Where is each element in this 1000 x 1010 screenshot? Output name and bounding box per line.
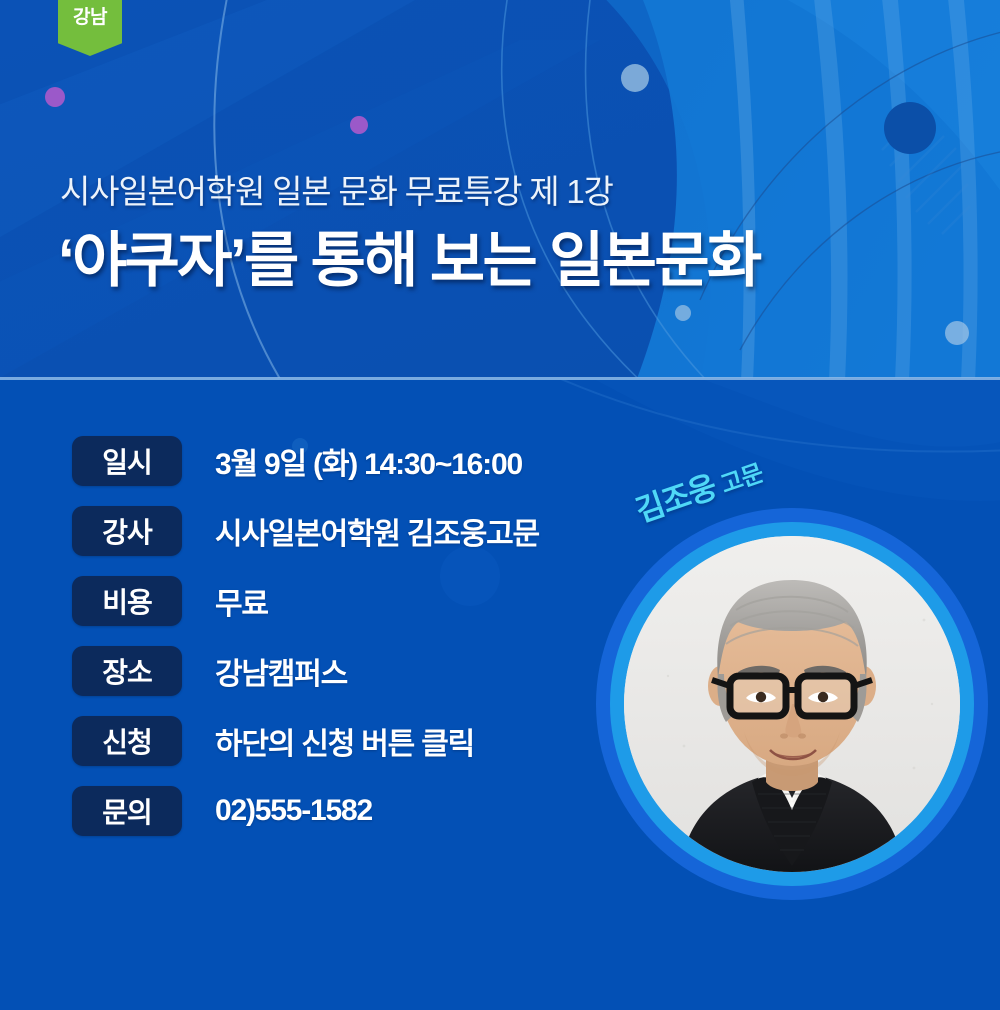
table-row: 비용 무료 (72, 576, 539, 626)
table-row: 신청 하단의 신청 버튼 클릭 (72, 716, 539, 766)
info-value-instructor: 시사일본어학원 김조웅고문 (215, 509, 539, 553)
hero-subtitle: 시사일본어학원 일본 문화 무료특강 제 1강 (60, 165, 613, 213)
hero-title: ‘야쿠자’를 통해 보는 일본문화 (58, 212, 760, 299)
event-info-table: 일시 3월 9일 (화) 14:30~16:00 강사 시사일본어학원 김조웅고… (72, 436, 539, 856)
table-row: 일시 3월 9일 (화) 14:30~16:00 (72, 436, 539, 486)
info-value-apply: 하단의 신청 버튼 클릭 (215, 719, 474, 763)
table-row: 장소 강남캠퍼스 (72, 646, 539, 696)
campus-badge-label: 강남 (73, 8, 107, 27)
table-row: 문의 02)555-1582 (72, 786, 539, 836)
info-label-place: 장소 (72, 646, 182, 696)
info-value-cost: 무료 (215, 579, 268, 623)
info-label-apply: 신청 (72, 716, 182, 766)
info-label-cost: 비용 (72, 576, 182, 626)
info-value-contact: 02)555-1582 (215, 794, 372, 828)
info-label-instructor: 강사 (72, 506, 182, 556)
table-row: 강사 시사일본어학원 김조웅고문 (72, 506, 539, 556)
portrait-photo-clip (624, 536, 960, 872)
portrait-photo (624, 536, 960, 872)
portrait-illustration (624, 536, 960, 872)
info-label-contact: 문의 (72, 786, 182, 836)
info-value-date: 3월 9일 (화) 14:30~16:00 (215, 439, 522, 483)
speaker-portrait (588, 488, 1000, 918)
info-value-place: 강남캠퍼스 (215, 649, 347, 693)
promo-banner: 강남 시사일본어학원 일본 문화 무료특강 제 1강 ‘야쿠자’를 통해 보는 … (0, 0, 1000, 1010)
info-label-date: 일시 (72, 436, 182, 486)
